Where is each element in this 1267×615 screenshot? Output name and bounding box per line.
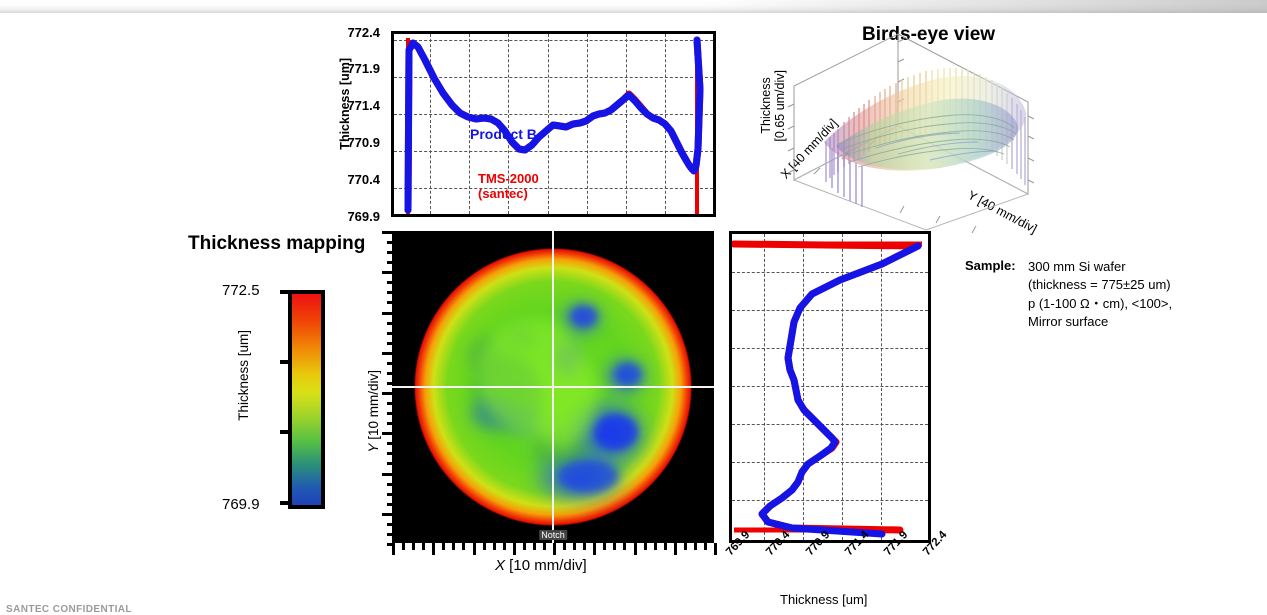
sample-line-3: p (1-100 Ω・cm), <100>,: [1028, 295, 1172, 313]
ruler-tick: [553, 543, 556, 555]
ruler-tick: [382, 392, 393, 395]
colorbar-tick: [280, 430, 292, 434]
ruler-tick: [387, 442, 393, 445]
line-profile-plot-svg: [394, 34, 713, 214]
ruler-tick: [674, 543, 677, 555]
ruler-tick: [664, 543, 667, 550]
colorbar-max-value: 772.5: [222, 282, 260, 299]
y-axis-symbol: Y: [366, 444, 381, 453]
colorbar-min-value: 769.9: [222, 496, 260, 513]
ruler-tick: [704, 543, 707, 550]
line-profile-y-ticks: 772.4 771.9 771.4 770.9 770.4 769.9: [334, 25, 384, 225]
ruler-tick: [382, 271, 393, 274]
y-tick: 771.4: [334, 98, 380, 113]
ruler-tick: [593, 543, 596, 555]
ruler-tick: [412, 543, 415, 550]
ruler-tick: [684, 543, 687, 550]
sample-label: Sample:: [965, 258, 1016, 273]
notch-label: Notch: [539, 530, 567, 540]
ruler-tick: [387, 422, 393, 425]
ruler-tick: [452, 543, 455, 550]
colorbar-tick: [280, 501, 292, 505]
ruler-tick: [387, 452, 393, 455]
ruler-tick: [382, 473, 393, 476]
vertical-profile-chart: [729, 231, 931, 543]
ruler-tick: [473, 543, 476, 555]
wafer-map-y-axis-label: Y [10 mm/div]: [366, 370, 381, 453]
ruler-tick: [387, 412, 393, 415]
ruler-tick: [387, 523, 393, 526]
tms-label-line2: (santec): [478, 187, 539, 202]
ruler-tick: [387, 301, 393, 304]
crosshair-vertical: [552, 231, 554, 543]
tms-label-line1: TMS-2000: [478, 172, 539, 187]
x-axis-units: [10 mm/div]: [505, 557, 587, 574]
ruler-tick: [513, 543, 516, 555]
ruler-tick: [387, 241, 393, 244]
ruler-tick: [387, 533, 393, 536]
sample-line-2: (thickness = 775±25 um): [1028, 276, 1172, 294]
ruler-tick: [462, 543, 465, 550]
ruler-tick: [382, 312, 393, 315]
y-tick: 769.9: [334, 209, 380, 224]
ruler-tick: [382, 513, 393, 516]
line-profile-series-label-tms2000: TMS-2000 (santec): [478, 172, 539, 201]
ruler-tick: [387, 493, 393, 496]
ruler-tick: [623, 543, 626, 550]
ruler-tick: [387, 332, 393, 335]
ruler-tick: [573, 543, 576, 550]
vertical-profile-x-axis-label: Thickness [um]: [780, 592, 867, 607]
ruler-tick: [654, 543, 657, 550]
footer-confidential-notice: SANTEC CONFIDENTIAL: [6, 604, 132, 615]
ruler-tick: [387, 543, 393, 546]
vertical-profile-plot-svg: [732, 234, 928, 540]
ruler-tick: [387, 291, 393, 294]
ruler-tick: [523, 543, 526, 550]
sample-description: 300 mm Si wafer (thickness = 775±25 um) …: [1028, 258, 1172, 332]
ruler-tick: [422, 543, 425, 550]
ruler-tick: [387, 322, 393, 325]
sample-line-1: 300 mm Si wafer: [1028, 258, 1172, 276]
wafer-thickness-map: Notch: [392, 231, 714, 543]
ruler-tick: [583, 543, 586, 550]
ruler-tick: [442, 543, 445, 550]
line-profile-chart: [391, 31, 716, 217]
ruler-tick: [533, 543, 536, 550]
ruler-tick: [387, 483, 393, 486]
ruler-tick: [483, 543, 486, 550]
ruler-tick: [387, 462, 393, 465]
wafer-map-x-axis-label: X [10 mm/div]: [495, 557, 587, 574]
x-axis-symbol: X: [495, 557, 505, 574]
ruler-tick: [382, 352, 393, 355]
ruler-tick: [613, 543, 616, 550]
y-axis-units: [10 mm/div]: [366, 370, 381, 444]
sample-line-4: Mirror surface: [1028, 313, 1172, 331]
ruler-tick: [603, 543, 606, 550]
colorbar-tick: [280, 360, 292, 364]
ruler-tick: [387, 362, 393, 365]
birds-eye-surface-plot: [780, 30, 1160, 235]
thickness-colorbar: [288, 290, 325, 509]
ruler-tick: [387, 261, 393, 264]
y-tick: 770.4: [334, 172, 380, 187]
ruler-tick: [563, 543, 566, 550]
ruler-tick: [402, 543, 405, 550]
ruler-tick: [382, 432, 393, 435]
ruler-tick: [387, 382, 393, 385]
ruler-tick: [387, 402, 393, 405]
birds-eye-z-label-line1: Thickness: [759, 78, 773, 134]
ruler-tick: [503, 543, 506, 550]
colorbar-tick: [280, 290, 292, 294]
wafer-map-x-ruler: [392, 543, 714, 555]
ruler-tick: [387, 251, 393, 254]
ruler-tick: [387, 342, 393, 345]
y-tick: 770.9: [334, 135, 380, 150]
thickness-mapping-title: Thickness mapping: [188, 233, 365, 255]
top-gradient-bar: [0, 0, 1267, 13]
birds-eye-surface: [824, 76, 1026, 171]
wafer-map-y-ruler: [382, 231, 393, 543]
line-profile-series-label-product-b: Product B: [470, 126, 537, 142]
ruler-tick: [634, 543, 637, 555]
ruler-tick: [387, 372, 393, 375]
ruler-tick: [432, 543, 435, 555]
ruler-tick: [493, 543, 496, 550]
ruler-tick: [644, 543, 647, 550]
ruler-tick: [382, 231, 393, 234]
ruler-tick: [387, 503, 393, 506]
ruler-tick: [714, 543, 717, 555]
ruler-tick: [694, 543, 697, 550]
y-tick: 771.9: [334, 61, 380, 76]
ruler-tick: [543, 543, 546, 550]
colorbar-axis-label: Thickness [um]: [236, 330, 251, 421]
y-tick: 772.4: [334, 25, 380, 40]
ruler-tick: [387, 281, 393, 284]
